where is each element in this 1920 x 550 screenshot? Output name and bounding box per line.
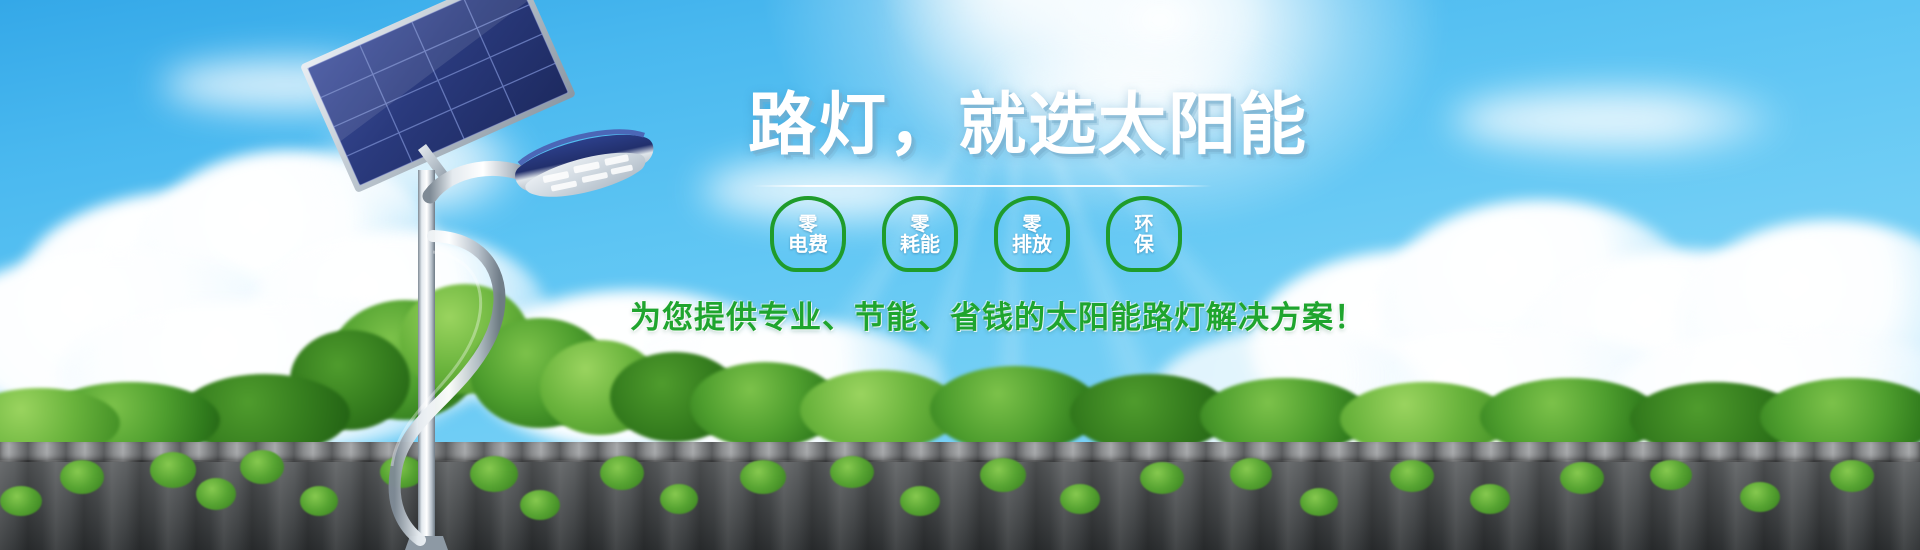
badge-top-label: 零: [1022, 214, 1041, 234]
page-title: 路灯，就选太阳能: [748, 92, 1308, 160]
badge-bottom-label: 电费: [788, 234, 828, 254]
badge-bottom-label: 耗能: [900, 234, 940, 254]
tiled-wall: [0, 442, 1920, 550]
solar-street-lamp: [300, 0, 720, 550]
feature-badge[interactable]: 零 排放: [994, 196, 1070, 272]
solar-street-lamp-banner: 路灯，就选太阳能 零 电费 零 耗能 零 排放 环 保 为您提供专业、节能、省钱…: [0, 0, 1920, 550]
headline-underline: [752, 185, 1212, 187]
led-lamp-head: [510, 122, 660, 206]
badge-top-label: 零: [798, 214, 817, 234]
feature-badge[interactable]: 零 电费: [770, 196, 846, 272]
feature-badge-list: 零 电费 零 耗能 零 排放 环 保: [770, 196, 1182, 272]
badge-top-label: 环: [1134, 214, 1153, 234]
badge-bottom-label: 排放: [1012, 234, 1052, 254]
lamp-pole: [418, 170, 435, 540]
badge-bottom-label: 保: [1134, 234, 1154, 254]
banner-tagline: 为您提供专业、节能、省钱的太阳能路灯解决方案！: [630, 292, 1366, 337]
feature-badge[interactable]: 环 保: [1106, 196, 1182, 272]
badge-top-label: 零: [910, 214, 929, 234]
wall-tile-pattern: [0, 460, 1920, 550]
wall-cap: [0, 442, 1920, 462]
feature-badge[interactable]: 零 耗能: [882, 196, 958, 272]
